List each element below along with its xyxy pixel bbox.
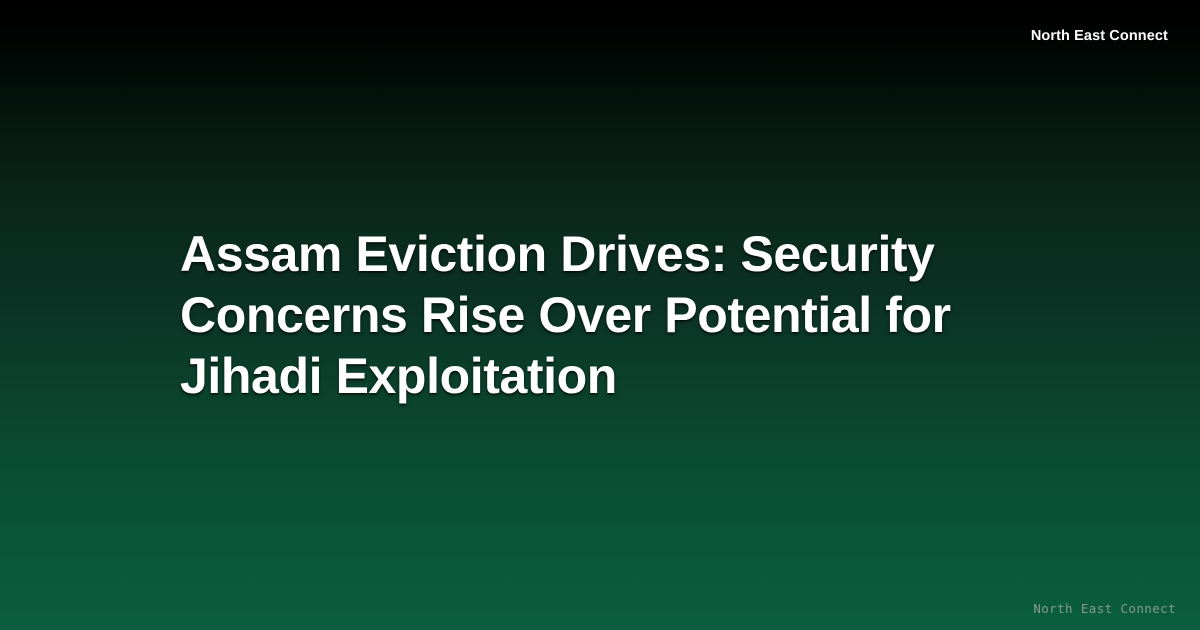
headline-container: Assam Eviction Drives: Security Concerns… <box>180 0 1020 630</box>
social-share-card: North East Connect Assam Eviction Drives… <box>0 0 1200 630</box>
page-title: Assam Eviction Drives: Security Concerns… <box>180 224 1020 407</box>
watermark-bottom: North East Connect <box>1033 601 1176 616</box>
brand-name-top: North East Connect <box>1031 28 1168 45</box>
